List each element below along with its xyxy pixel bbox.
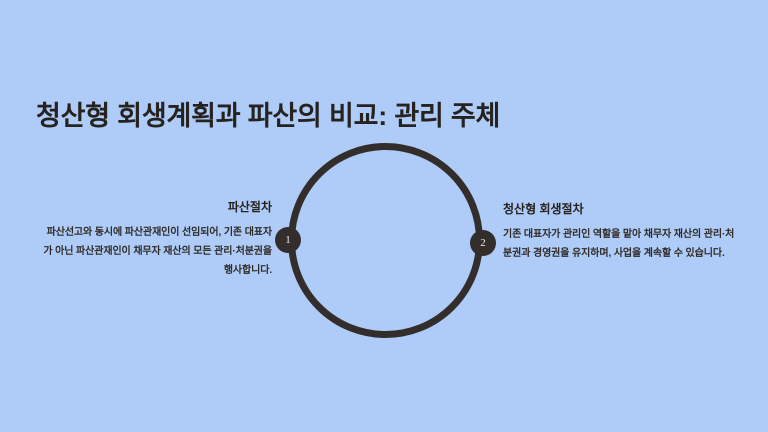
block-body-bankruptcy: 파산선고와 동시에 파산관재인이 선임되어, 기존 대표자가 아닌 파산관재인이… (40, 223, 272, 280)
step-marker-2[interactable]: 2 (470, 230, 496, 256)
block-heading-bankruptcy: 파산절차 (40, 200, 272, 216)
text-block-bankruptcy: 파산절차 파산선고와 동시에 파산관재인이 선임되어, 기존 대표자가 아닌 파… (40, 200, 272, 280)
step-marker-1[interactable]: 1 (275, 227, 301, 253)
block-body-rehabilitation: 기존 대표자가 관리인 역할을 맡아 채무자 재산의 관리·처분권과 경영권을 … (503, 225, 735, 263)
cycle-diagram: 1 2 (288, 143, 483, 338)
page-title: 청산형 회생계획과 파산의 비교: 관리 주체 (36, 100, 500, 134)
cycle-ring (288, 143, 483, 338)
slide-canvas: 청산형 회생계획과 파산의 비교: 관리 주체 1 2 파산절차 파산선고와 동… (0, 0, 768, 432)
text-block-rehabilitation: 청산형 회생절차 기존 대표자가 관리인 역할을 맡아 채무자 재산의 관리·처… (503, 202, 735, 263)
block-heading-rehabilitation: 청산형 회생절차 (503, 202, 735, 218)
